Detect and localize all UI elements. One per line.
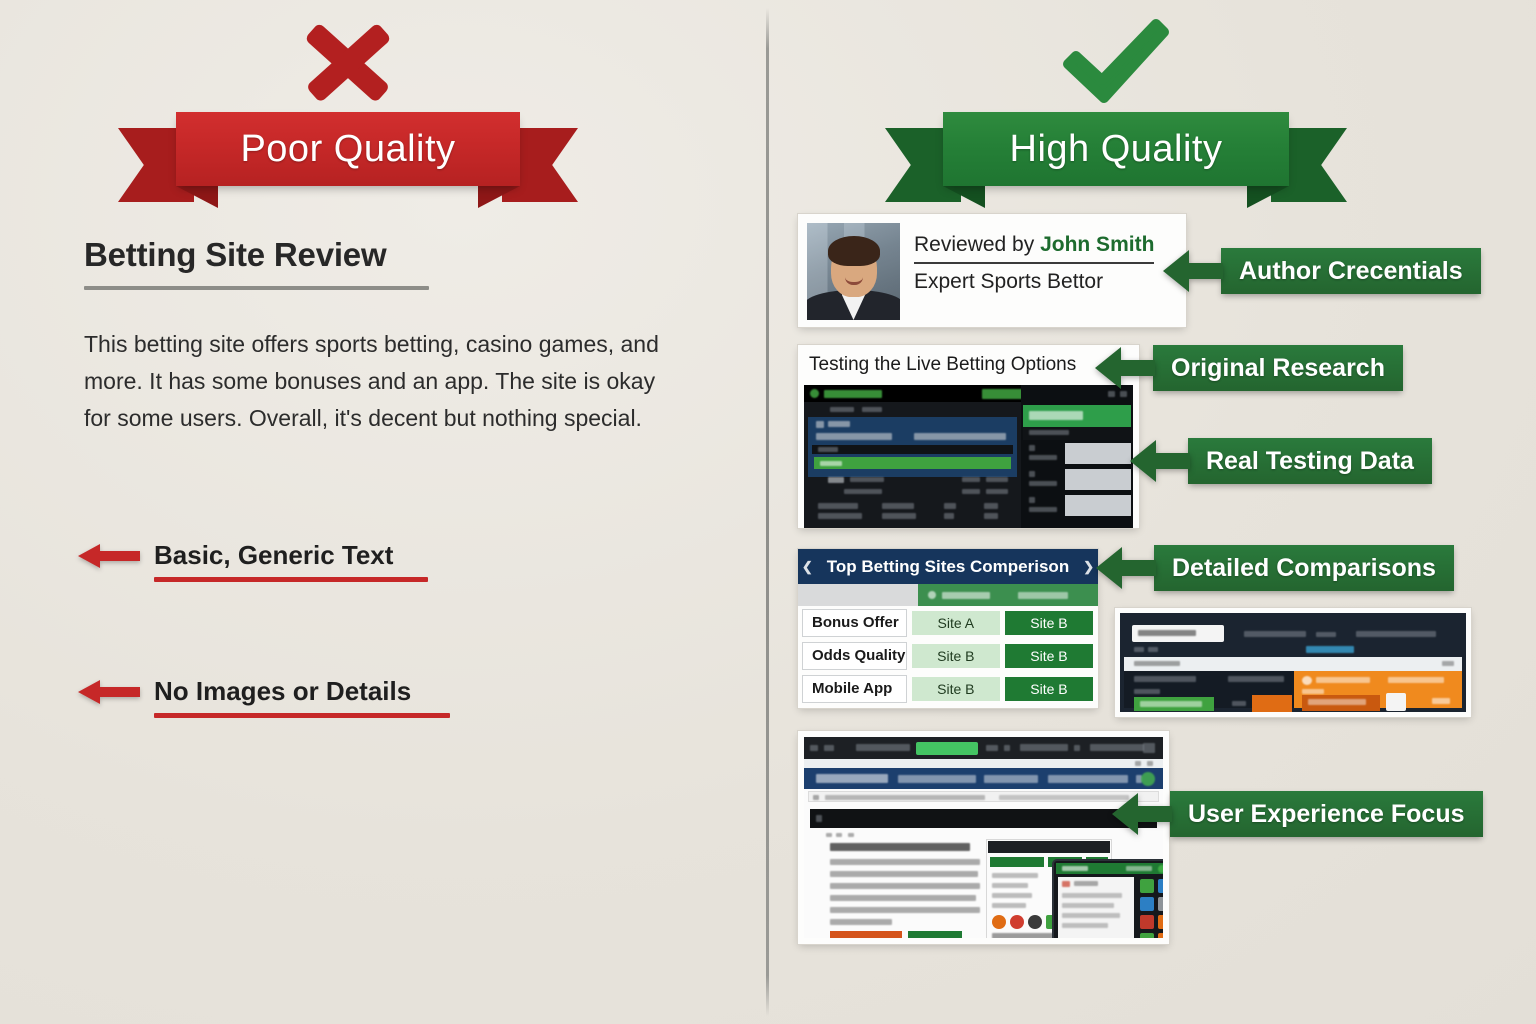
comparison-table-title: Top Betting Sites Comperison [827,557,1069,577]
annotation-label: Detailed Comparisons [1154,545,1454,591]
flag-underline [154,577,428,582]
arrow-left-icon [78,679,140,705]
annotation-label: Real Testing Data [1188,438,1432,484]
original-research-card: Testing the Live Betting Options [797,344,1140,529]
subheader-site-cells [918,584,1098,606]
browser-with-mobile-preview-screenshot [804,737,1163,938]
screenshot-topbar [804,385,1021,402]
check-mark-icon [1060,18,1172,109]
author-text-block: Reviewed by John Smith Expert Sports Bet… [914,223,1154,318]
mobile-preview [1052,859,1163,938]
comparison-subheader-row [798,584,1098,606]
table-row: Mobile App Site B Site B [798,672,1098,705]
ribbon-label-high: High Quality [943,112,1289,186]
annotation-label: Original Research [1153,345,1403,391]
annotation-label: Author Crecentials [1221,248,1481,294]
arrow-left-icon [78,543,140,569]
row-cell-site-a: Site B [912,677,1000,701]
flag-basic-generic-text: Basic, Generic Text [78,540,393,571]
arrow-left-icon [1130,438,1190,484]
row-cell-site-b: Site B [1005,611,1093,635]
arrow-left-icon [1096,545,1156,591]
arrow-left-icon [1112,791,1172,837]
ribbon-poor-quality: Poor Quality [118,112,578,186]
annotation-author-credentials: Author Crecentials [1163,248,1481,294]
comparison-table-header: ❮ Top Betting Sites Comperison ❯ [798,549,1098,584]
browser-nav-bar [804,759,1163,768]
infographic-canvas: Poor Quality Betting Site Review This be… [0,0,1536,1024]
flag-label: No Images or Details [154,676,411,707]
arrow-left-icon [1163,248,1223,294]
ribbon-high-quality: High Quality [885,112,1347,186]
table-row: Bonus Offer Site A Site B [798,606,1098,639]
hero-black-band [810,809,1157,828]
url-bar[interactable] [808,791,1159,802]
annotation-original-research: Original Research [1095,345,1403,391]
flag-no-images-or-details: No Images or Details [78,676,411,707]
dashboard-screenshot-card [1114,607,1472,718]
author-name: John Smith [1040,233,1154,256]
dark-orange-dashboard-screenshot [1120,613,1466,712]
annotation-label: User Experience Focus [1170,791,1483,837]
flag-label: Basic, Generic Text [154,540,393,571]
browser-tab-bar [804,737,1163,759]
screenshot-left-pane [804,385,1021,528]
author-title: Expert Sports Bettor [914,270,1154,294]
user-experience-screenshot-card [797,730,1170,945]
table-row: Odds Quality Site B Site B [798,639,1098,672]
research-caption: Testing the Live Betting Options [798,345,1139,385]
row-cell-site-a: Site A [912,611,1000,635]
avatar [807,223,900,320]
title-underline [84,286,429,290]
row-cell-site-b: Site B [1005,644,1093,668]
ribbon-label-poor: Poor Quality [176,112,520,186]
avatar-hair [828,236,880,266]
row-label: Mobile App [802,675,907,703]
reviewed-by-line: Reviewed by John Smith [914,233,1154,264]
row-label: Odds Quality [802,642,907,670]
chevron-right-icon[interactable]: ❯ [1083,559,1094,575]
annotation-real-testing-data: Real Testing Data [1130,438,1432,484]
annotation-user-experience-focus: User Experience Focus [1112,791,1483,837]
chevron-left-icon[interactable]: ❮ [802,559,813,575]
row-cell-site-a: Site B [912,644,1000,668]
comparison-table-card: ❮ Top Betting Sites Comperison ❯ Bonus O… [797,548,1099,709]
reviewed-by-prefix: Reviewed by [914,233,1040,256]
row-cell-site-b: Site B [1005,677,1093,701]
page-title: Betting Site Review [84,236,386,274]
annotation-detailed-comparisons: Detailed Comparisons [1096,545,1454,591]
site-menu-bar [804,768,1163,789]
arrow-left-icon [1095,345,1155,391]
screenshot-right-pane [1021,385,1133,528]
live-betting-dashboard-screenshot [804,385,1133,528]
row-label: Bonus Offer [802,609,907,637]
x-mark-icon [292,16,404,113]
vertical-divider [766,8,769,1016]
author-credentials-card: Reviewed by John Smith Expert Sports Bet… [797,213,1187,328]
flag-underline [154,713,450,718]
article-body-text: This betting site offers sports betting,… [84,326,684,437]
subheader-blank-cell [798,584,918,606]
